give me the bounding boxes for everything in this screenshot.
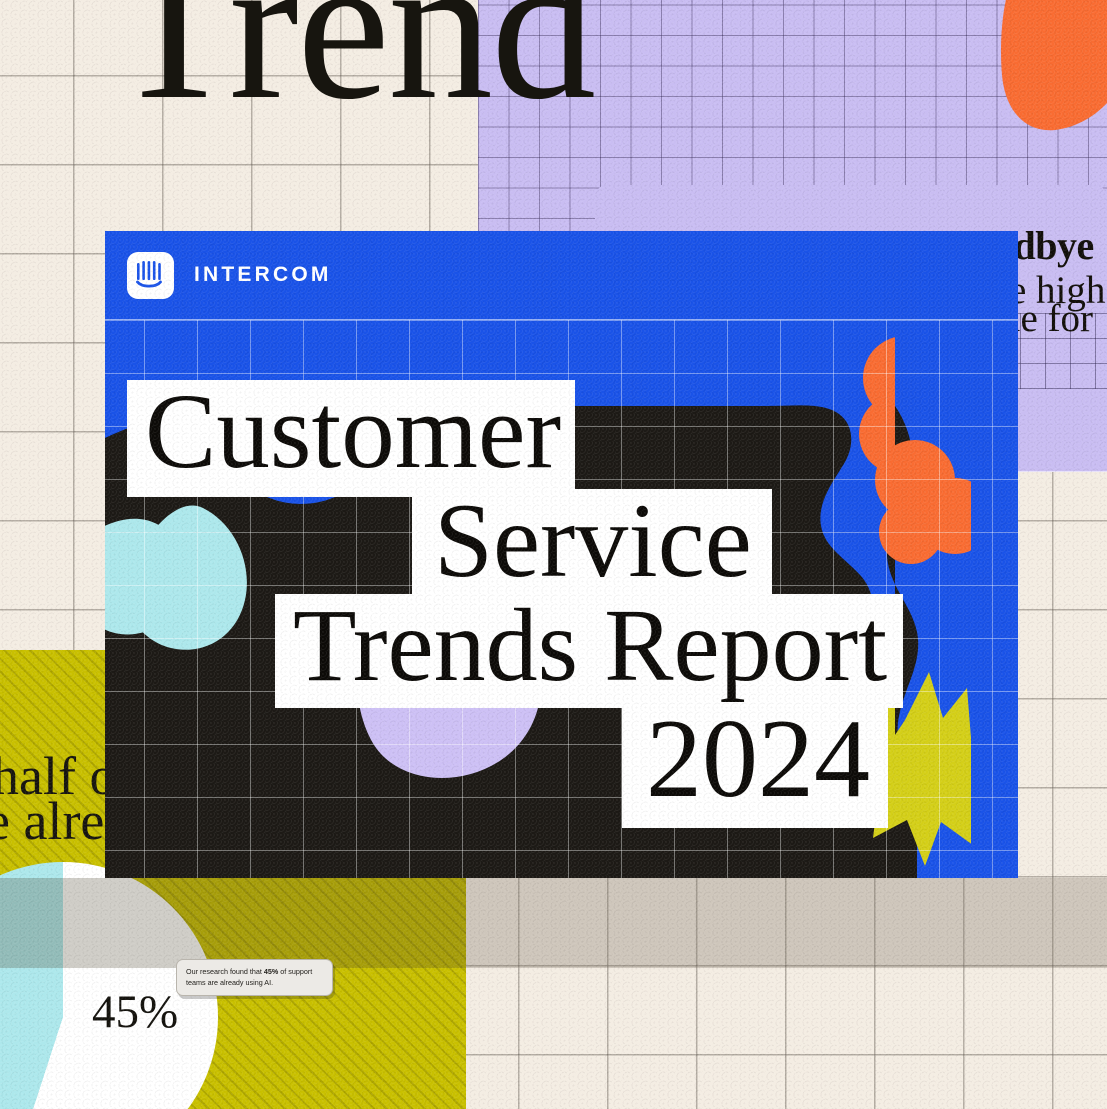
cover-header: INTERCOM: [105, 231, 1018, 320]
research-tooltip: Our research found that 45% of support t…: [176, 959, 333, 996]
pie-data-label: 45%: [92, 985, 178, 1039]
purple-card-heading: Trend: [110, 0, 594, 132]
title-line-1-text: Customer: [145, 371, 561, 494]
orange-blob-top-icon: [1000, 0, 1107, 170]
title-line-3: Trends Report: [275, 594, 903, 708]
intercom-logo-icon: [127, 252, 174, 299]
tooltip-text-before: Our research found that: [186, 967, 264, 976]
poster-canvas: Trend odbye re high ttle for half o e al…: [0, 0, 1107, 1109]
grey-overlay-right: [466, 878, 1107, 968]
tooltip-highlight: 45%: [264, 967, 278, 976]
grey-overlay-left: [0, 878, 466, 968]
brand-wordmark: INTERCOM: [194, 263, 332, 287]
title-line-4: 2024: [622, 702, 888, 828]
title-line-3-text: Trends Report: [293, 586, 887, 705]
title-line-2-text: Service: [434, 480, 752, 602]
title-line-4-text: 2024: [646, 695, 870, 824]
